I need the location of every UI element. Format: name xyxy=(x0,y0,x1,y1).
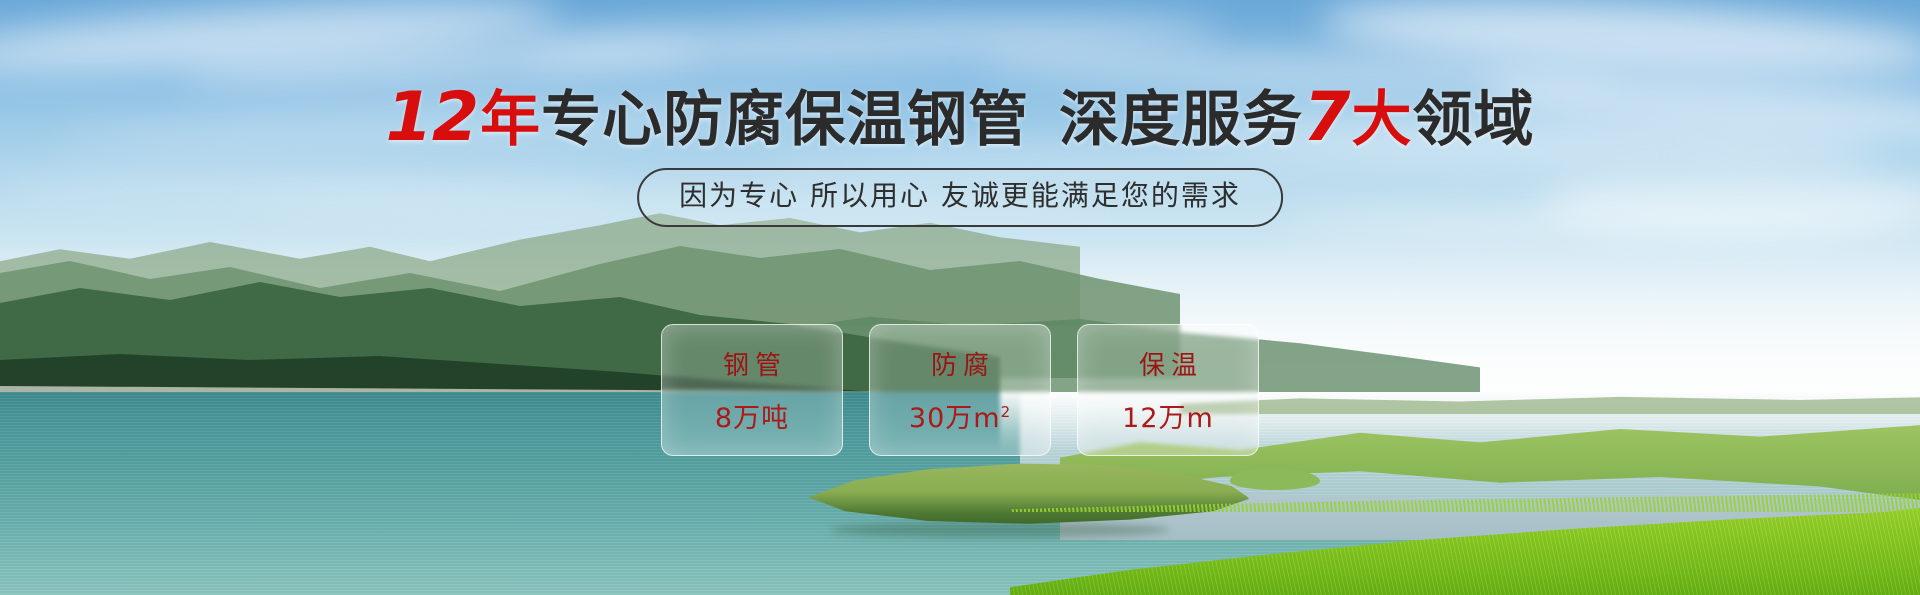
stat-card-steel-pipe[interactable]: 钢管 8万吨 xyxy=(661,324,843,456)
stat-card-insulation[interactable]: 保温 12万m xyxy=(1077,324,1259,456)
headline-segment-two: 深度服务 xyxy=(1059,85,1303,155)
headline-highlight-unit: 大 xyxy=(1351,85,1412,155)
stat-card-value: 8万吨 xyxy=(715,396,789,435)
stat-card-value-text: 8万吨 xyxy=(715,403,789,434)
stat-card-value: 12万m xyxy=(1122,396,1214,435)
stat-card-title: 保温 xyxy=(1133,345,1203,382)
stat-card-value-text: 30万m xyxy=(909,403,1001,434)
headline-segment-three: 领域 xyxy=(1412,85,1534,155)
banner-headline: 12年专心防腐保温钢管深度服务7大领域 xyxy=(0,86,1920,152)
headline-segment-one: 专心防腐保温钢管 xyxy=(541,85,1029,155)
stat-card-anticorrosion[interactable]: 防腐 30万m2 xyxy=(869,324,1051,456)
cloud-streak-icon xyxy=(1280,206,1920,240)
stat-card-value-text: 12万m xyxy=(1122,403,1214,434)
hero-banner: 12年专心防腐保温钢管深度服务7大领域 因为专心 所以用心 友诚更能满足您的需求… xyxy=(0,0,1920,595)
headline-years-number: 12 xyxy=(386,78,481,157)
stat-card-value-superscript: 2 xyxy=(1001,403,1012,421)
stat-card-group: 钢管 8万吨 防腐 30万m2 保温 12万m xyxy=(661,324,1259,456)
stat-card-title: 钢管 xyxy=(717,345,787,382)
headline-highlight-number: 7 xyxy=(1303,78,1351,157)
island-reflection xyxy=(830,522,1170,538)
headline-years-unit: 年 xyxy=(480,85,541,155)
stat-card-value: 30万m2 xyxy=(909,396,1011,435)
banner-subtitle-pill: 因为专心 所以用心 友诚更能满足您的需求 xyxy=(637,168,1283,227)
stat-card-title: 防腐 xyxy=(925,345,995,382)
